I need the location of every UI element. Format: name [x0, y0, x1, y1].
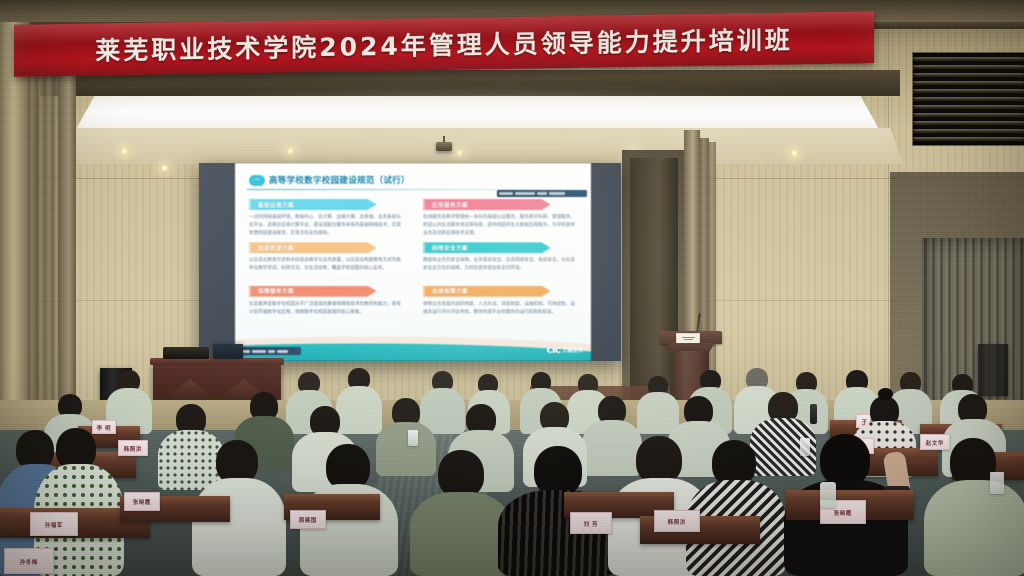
section-tag: 保障服务方案	[249, 286, 377, 297]
slide-content-grid: 基础设施方案 一流的网络基础环境，数据中心、云计算、边缘计算、云存储，业务系统与…	[249, 199, 579, 327]
slide-section: 保障服务方案 信息素养是数字化校园水平广泛提高的重要保障和技术的教师和能力，要有…	[249, 286, 405, 327]
name-card-text: 张晓霞	[133, 497, 151, 505]
slide-index-badge: 一	[249, 175, 265, 186]
presentation-slide: 一 高等学校数字校园建设规范（试行） 基础设施方案 一流的网络基础环境，数据中心…	[235, 163, 591, 361]
section-tag-label: 保障服务方案	[258, 287, 294, 295]
screen-side-band	[199, 163, 235, 361]
slide-section: 网络安全方案 数据和业务的安全保障，业务系统安全、信息网络安全、系统安全，与信息…	[423, 242, 579, 283]
downlight	[790, 150, 799, 156]
name-card: 周建国	[290, 510, 326, 529]
section-tag-label: 信息资源方案	[258, 244, 294, 252]
name-card: 韩照洪	[654, 510, 700, 532]
section-tag-label: 运维保障方案	[432, 287, 468, 295]
console-worktop	[150, 358, 284, 365]
water-cup	[800, 438, 810, 456]
section-tag-label: 应用服务方案	[432, 201, 468, 209]
name-card-text: 孙冬梅	[20, 557, 38, 565]
name-card: 孙冬梅	[4, 548, 54, 574]
downlight	[120, 148, 129, 154]
water-cup	[408, 430, 418, 446]
loudspeaker	[978, 344, 1008, 396]
screen-side-band	[591, 163, 621, 361]
slide-footer-logo: cic 工程技术	[546, 344, 583, 355]
projector-osd-bar	[497, 190, 587, 197]
slide-section: 运维保障方案 保障业务发展的组织构建、人员队伍、流程制度、运维机制、可持续性，运…	[423, 286, 579, 327]
downlight	[160, 165, 169, 171]
name-card: 赵文华	[920, 434, 950, 450]
section-tag-label: 基础设施方案	[258, 201, 294, 209]
name-card-text: 刘 芳	[584, 519, 598, 527]
meeting-room-photo: 莱芜职业技术学院2024年管理人员领导能力提升培训班 一 高等学校数字校园建设规…	[0, 0, 1024, 576]
projection-screen[interactable]: 一 高等学校数字校园建设规范（试行） 基础设施方案 一流的网络基础环境，数据中心…	[199, 163, 621, 361]
name-card-text: 孙福军	[45, 520, 63, 528]
banner-title: 莱芜职业技术学院2024年管理人员领导能力提升培训班	[95, 21, 793, 68]
water-cup	[990, 472, 1004, 494]
desktop-taskbar[interactable]	[239, 347, 301, 355]
podium-top	[660, 331, 722, 344]
podium-nameplate	[676, 333, 700, 344]
section-body: 一流的网络基础环境，数据中心、云计算、边缘计算、云存储，业务系统与云平台、适用云…	[249, 214, 405, 238]
slide-section: 基础设施方案 一流的网络基础环境，数据中心、云计算、边缘计算、云存储，业务系统与…	[249, 199, 405, 240]
section-tag: 基础设施方案	[249, 199, 377, 210]
thermos	[810, 404, 817, 424]
downlight	[286, 148, 295, 154]
slide-section: 信息资源方案 以信息化教育方式和手段提高教学与业务质量，以信息化构建教育方式的数…	[249, 242, 405, 283]
section-tag: 网络安全方案	[423, 242, 551, 253]
name-card: 张晓霞	[124, 492, 160, 511]
logo-mark: cic	[546, 344, 560, 355]
name-card-text: 周建国	[299, 515, 317, 523]
ventilation-grille-icon	[912, 52, 1024, 146]
section-body: 在线服务及教学管理统一身份的基础认证服务，服务教学科研、管理服务、校园公共生活服…	[423, 214, 579, 238]
downlight	[455, 150, 464, 156]
section-tag-label: 网络安全方案	[432, 244, 468, 252]
section-body: 数据和业务的安全保障，业务系统安全、信息网络安全、系统安全，与信息安全全方位的保…	[423, 257, 579, 273]
ceiling-plate	[58, 128, 903, 164]
name-card-text: 张晓霞	[834, 508, 852, 516]
slide-title-row: 一 高等学校数字校园建设规范（试行）	[249, 172, 581, 188]
av-equipment	[163, 347, 209, 359]
name-card: 韩照洪	[118, 440, 148, 456]
control-monitor[interactable]	[213, 344, 243, 359]
logo-wordmark: 工程技术	[562, 347, 583, 355]
name-card-text: 韩照洪	[668, 517, 686, 525]
section-body: 保障业务发展的组织构建、人员队伍、流程制度、运维机制、可持续性，运维及运行评价评…	[423, 301, 579, 317]
name-card: 孙福军	[30, 512, 78, 536]
section-body: 以信息化教育方式和手段提高教学与业务质量，以信息化构建教育方式的数字化教学空间，…	[249, 257, 405, 273]
section-tag: 信息资源方案	[249, 242, 377, 253]
slide-title: 高等学校数字校园建设规范（试行）	[269, 174, 410, 186]
section-tag: 运维保障方案	[423, 286, 551, 297]
water-cup	[820, 482, 836, 508]
name-card: 刘 芳	[570, 512, 612, 534]
slide-section: 应用服务方案 在线服务及教学管理统一身份的基础认证服务，服务教学科研、管理服务、…	[423, 199, 579, 240]
name-card: 李 明	[92, 420, 116, 434]
section-tag: 应用服务方案	[423, 199, 551, 210]
projector-icon	[436, 142, 452, 151]
section-body: 信息素养是数字化校园水平广泛提高的重要保障和技术的教师和能力，要有计划开展数字化…	[249, 301, 405, 317]
